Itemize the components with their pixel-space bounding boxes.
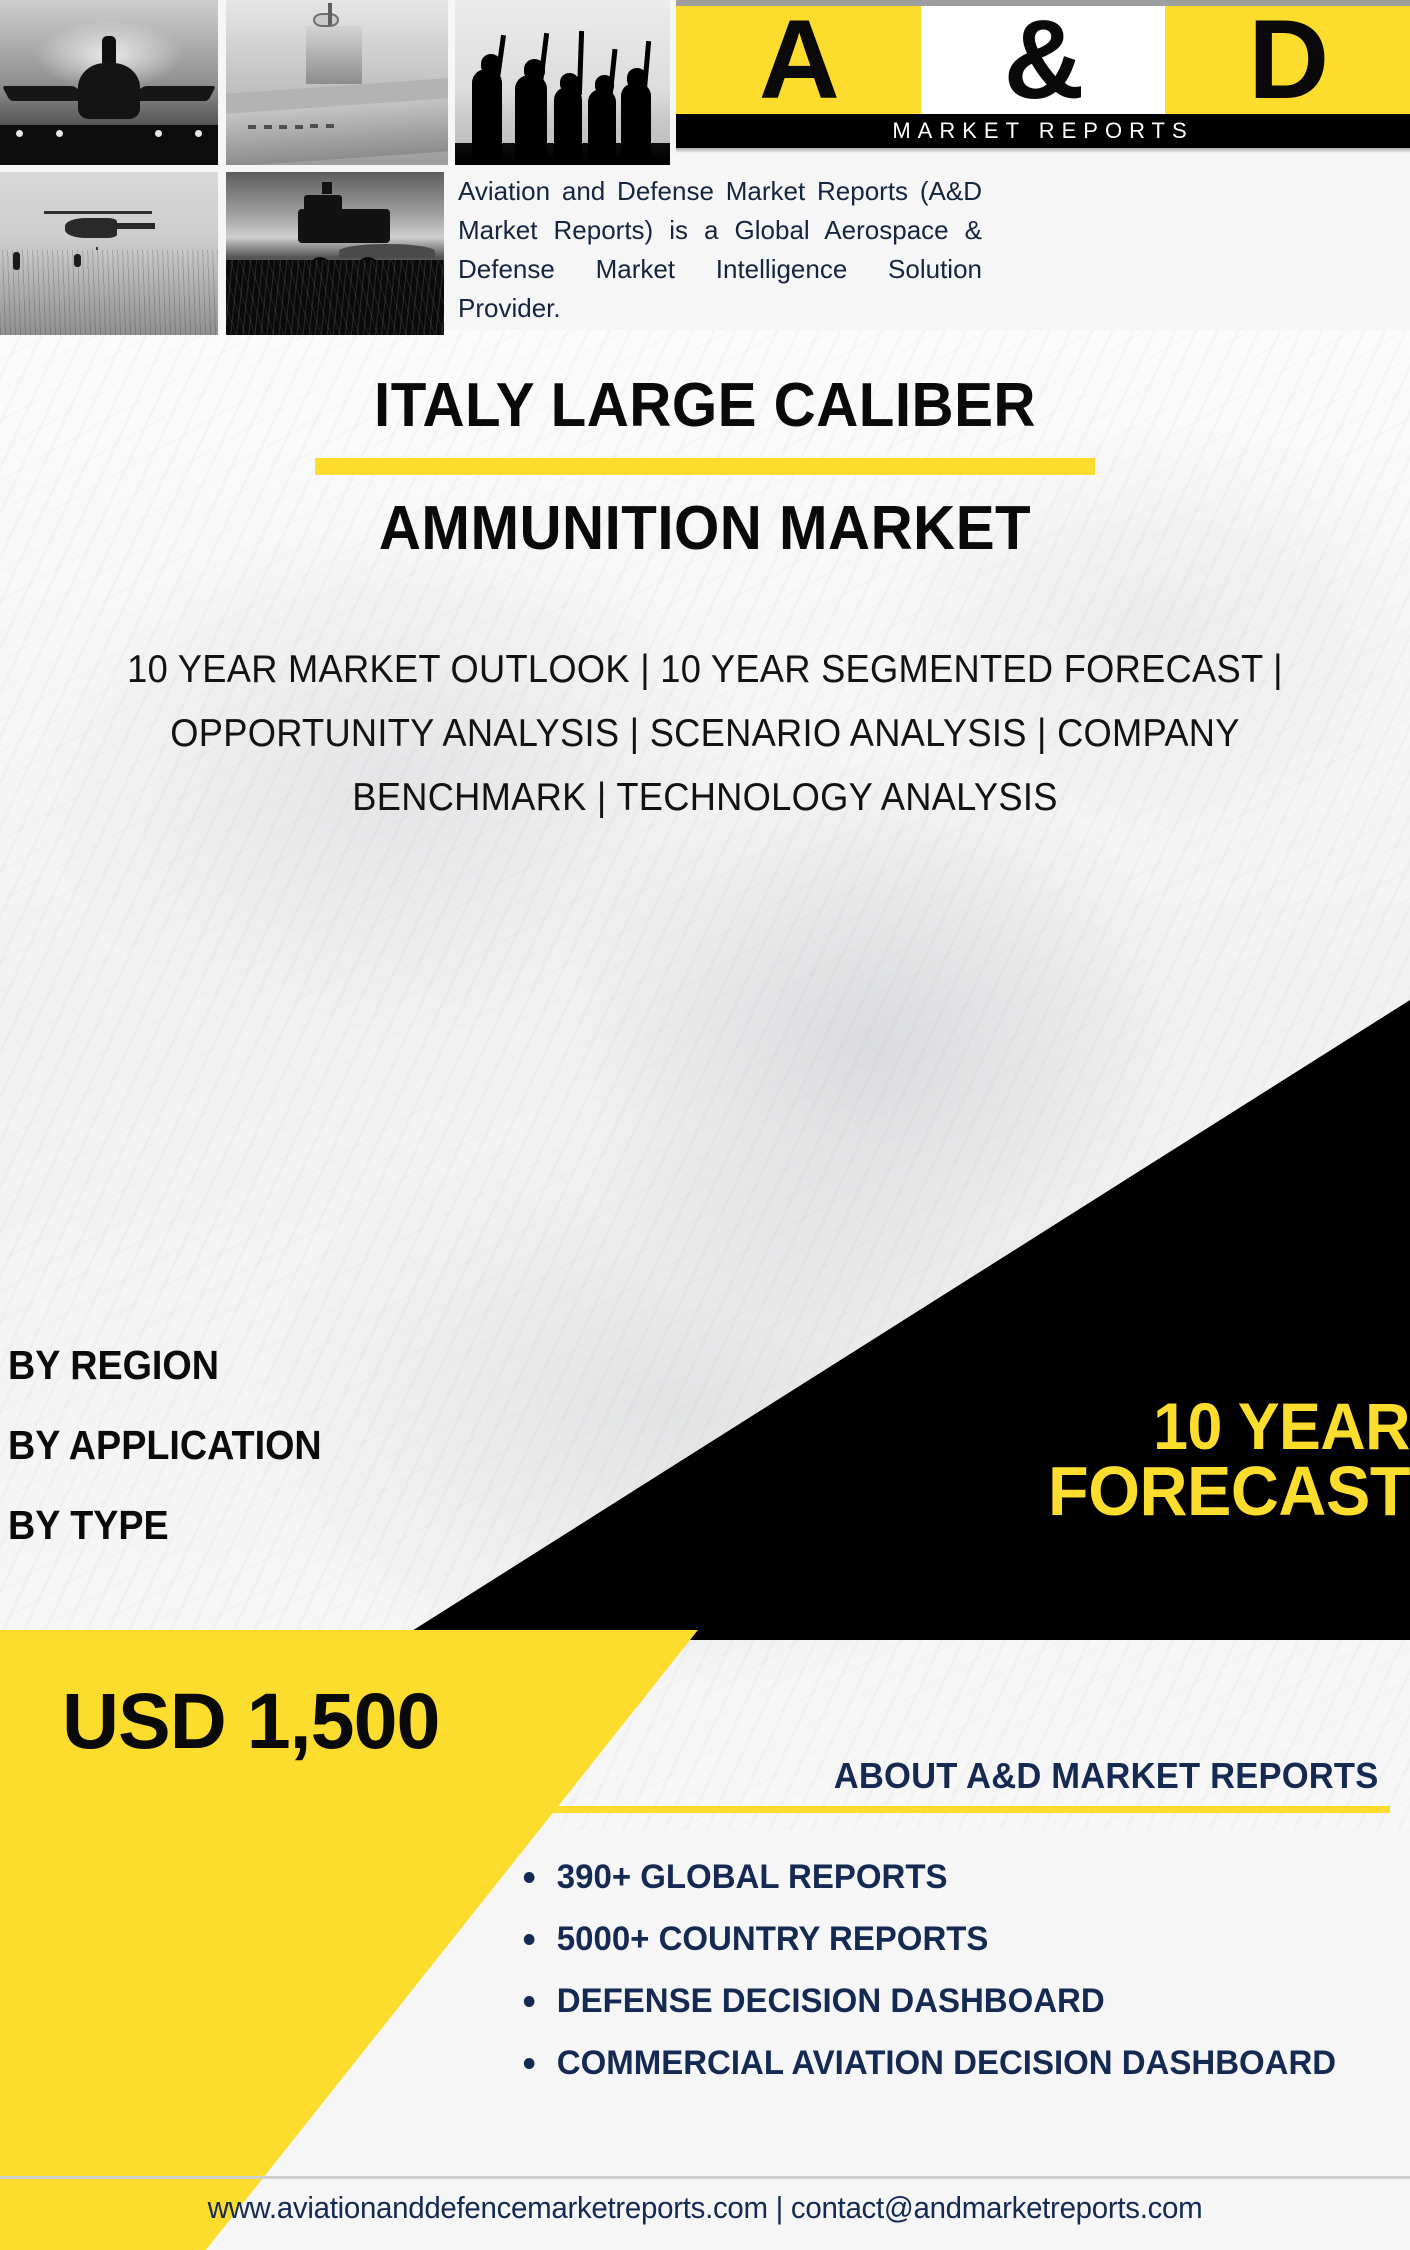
photo-aircraft-carrier — [226, 0, 448, 165]
photo-fighter-jet-on-deck — [0, 0, 218, 165]
logo-band-label: MARKET REPORTS — [892, 118, 1193, 144]
price-label: USD 1,500 — [62, 1675, 439, 1767]
logo-letter-ampersand: & — [1004, 4, 1083, 116]
logo-cell-d: D — [1165, 6, 1410, 114]
photo-helicopter-rappel — [0, 172, 218, 335]
about-bullet-list: 390+ GLOBAL REPORTS 5000+ COUNTRY REPORT… — [518, 1855, 1390, 2085]
report-title-line-2: AMMUNITION MARKET — [42, 493, 1367, 565]
forecast-badge: 10 YEAR FORECAST — [745, 1395, 1410, 1526]
forecast-badge-line-2: FORECAST — [745, 1458, 1410, 1525]
about-bullet-defense-dashboard: DEFENSE DECISION DASHBOARD — [518, 1979, 1364, 2023]
logo-band-shadow — [676, 148, 1410, 153]
logo-letter-d: D — [1248, 4, 1327, 116]
report-title-line-1: ITALY LARGE CALIBER — [42, 370, 1367, 442]
about-section: ABOUT A&D MARKET REPORTS 390+ GLOBAL REP… — [460, 1755, 1390, 2103]
report-scope-description: 10 YEAR MARKET OUTLOOK | 10 YEAR SEGMENT… — [77, 638, 1333, 830]
logo-cell-a: A — [676, 6, 921, 114]
company-intro-paragraph: Aviation and Defense Market Reports (A&D… — [458, 172, 982, 328]
about-bullet-commercial-aviation-dashboard: COMMERCIAL AVIATION DECISION DASHBOARD — [518, 2041, 1364, 2085]
about-section-heading: ABOUT A&D MARKET REPORTS — [497, 1755, 1390, 1797]
logo-letter-row: A & D — [676, 6, 1410, 114]
brand-logo: A & D MARKET REPORTS — [676, 0, 1410, 148]
segment-item-by-application: BY APPLICATION — [8, 1425, 597, 1466]
footer-divider — [0, 2176, 1410, 2179]
logo-market-reports-band: MARKET REPORTS — [676, 114, 1410, 148]
about-yellow-rule — [510, 1806, 1390, 1813]
report-poster: A & D MARKET REPORTS Aviation and Defens… — [0, 0, 1410, 2250]
about-bullet-country-reports: 5000+ COUNTRY REPORTS — [518, 1917, 1364, 1961]
photo-armoured-vehicle — [226, 172, 444, 335]
report-title: ITALY LARGE CALIBER AMMUNITION MARKET — [0, 370, 1410, 565]
segment-item-by-type: BY TYPE — [8, 1505, 597, 1546]
photo-soldiers-silhouette — [455, 0, 670, 165]
segment-item-by-region: BY REGION — [8, 1345, 597, 1386]
logo-letter-a: A — [759, 4, 838, 116]
footer-contact: www.aviationanddefencemarketreports.com … — [35, 2190, 1375, 2226]
title-yellow-rule — [315, 458, 1095, 475]
forecast-badge-line-1: 10 YEAR — [745, 1395, 1410, 1458]
logo-cell-ampersand: & — [921, 6, 1166, 114]
about-bullet-global-reports: 390+ GLOBAL REPORTS — [518, 1855, 1364, 1899]
